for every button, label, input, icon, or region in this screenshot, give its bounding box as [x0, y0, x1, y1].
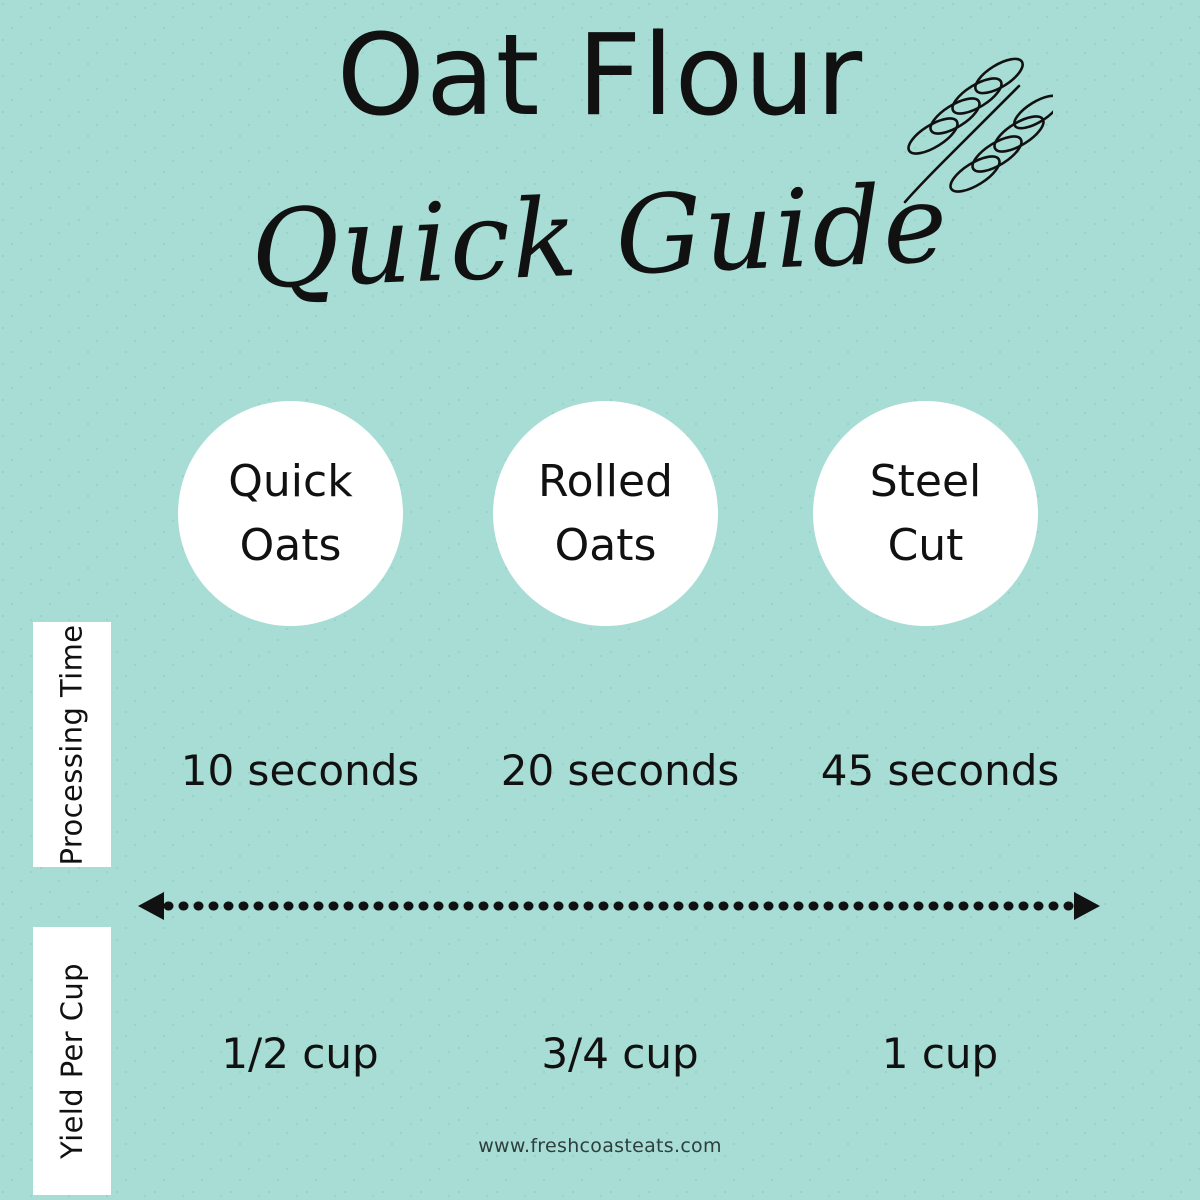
- value-cell: 20 seconds: [460, 735, 780, 805]
- double-headed-dotted-arrow-icon: [138, 888, 1100, 924]
- column-header-circle-steel-cut[interactable]: Steel Cut: [813, 401, 1038, 626]
- column-header-line2: Oats: [240, 514, 342, 578]
- footer-website[interactable]: www.freshcoasteats.com: [0, 1135, 1200, 1157]
- value-cell: 3/4 cup: [460, 1018, 780, 1088]
- leaf-sprig-icon: [893, 40, 1053, 212]
- value-cell: 45 seconds: [780, 735, 1100, 805]
- row-label-text: Processing Time: [55, 624, 89, 865]
- value-cell: 1/2 cup: [140, 1018, 460, 1088]
- row-label-text: Yield Per Cup: [55, 963, 89, 1159]
- column-header-line2: Cut: [888, 514, 964, 578]
- yield-per-cup-row: 1/2 cup 3/4 cup 1 cup: [140, 1018, 1100, 1088]
- row-label-processing-time: Processing Time: [33, 622, 111, 867]
- column-header-circle-quick-oats[interactable]: Quick Oats: [178, 401, 403, 626]
- infographic-poster: Oat Flour Quick Guide Quick Oats Rolled …: [0, 0, 1200, 1200]
- processing-time-row: 10 seconds 20 seconds 45 seconds: [140, 735, 1100, 805]
- column-header-line1: Rolled: [538, 450, 673, 514]
- column-header-line1: Quick: [228, 450, 352, 514]
- value-cell: 1 cup: [780, 1018, 1100, 1088]
- column-header-circle-rolled-oats[interactable]: Rolled Oats: [493, 401, 718, 626]
- value-cell: 10 seconds: [140, 735, 460, 805]
- column-header-line2: Oats: [555, 514, 657, 578]
- column-header-line1: Steel: [870, 450, 982, 514]
